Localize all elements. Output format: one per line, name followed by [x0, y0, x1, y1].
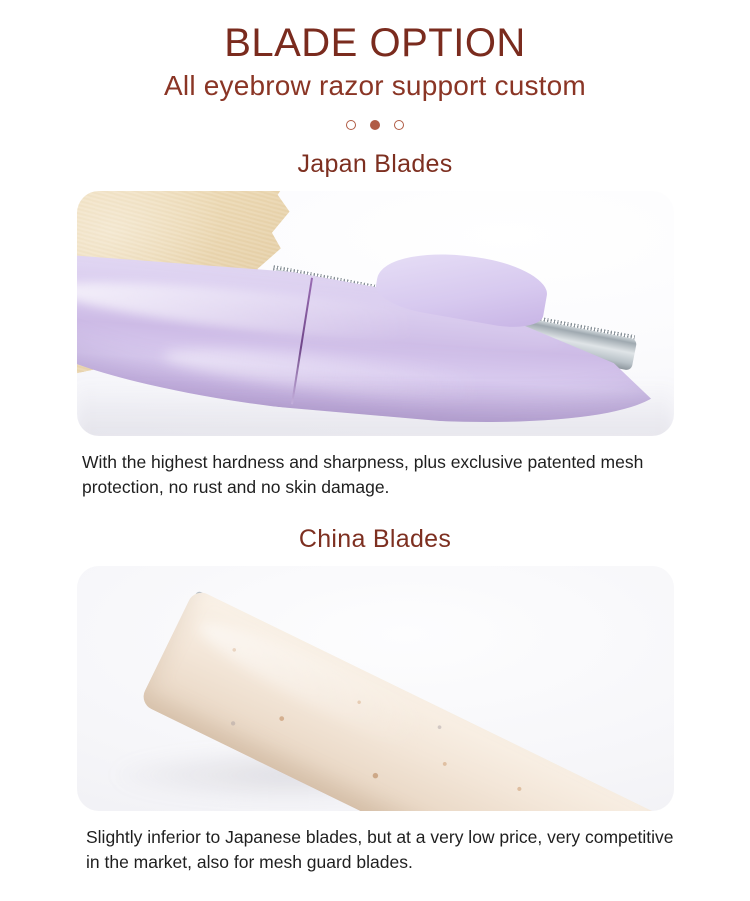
pagination-dot-2-active[interactable] [370, 120, 380, 130]
product-detail-page: BLADE OPTION All eyebrow razor support c… [0, 22, 750, 901]
page-title: BLADE OPTION [0, 22, 750, 64]
caption-japan-blades: With the highest hardness and sharpness,… [70, 450, 680, 500]
product-photo-japan-blades [77, 191, 674, 436]
page-subtitle: All eyebrow razor support custom [0, 71, 750, 102]
pagination-dots [0, 118, 750, 132]
section-heading-china-blades: China Blades [0, 525, 750, 554]
photo-drop-shadow [77, 382, 674, 436]
product-photo-china-blades [77, 566, 674, 811]
pagination-dot-3[interactable] [394, 120, 404, 130]
section-heading-japan-blades: Japan Blades [0, 150, 750, 179]
pagination-dot-1[interactable] [346, 120, 356, 130]
caption-china-blades: Slightly inferior to Japanese blades, bu… [70, 825, 680, 875]
